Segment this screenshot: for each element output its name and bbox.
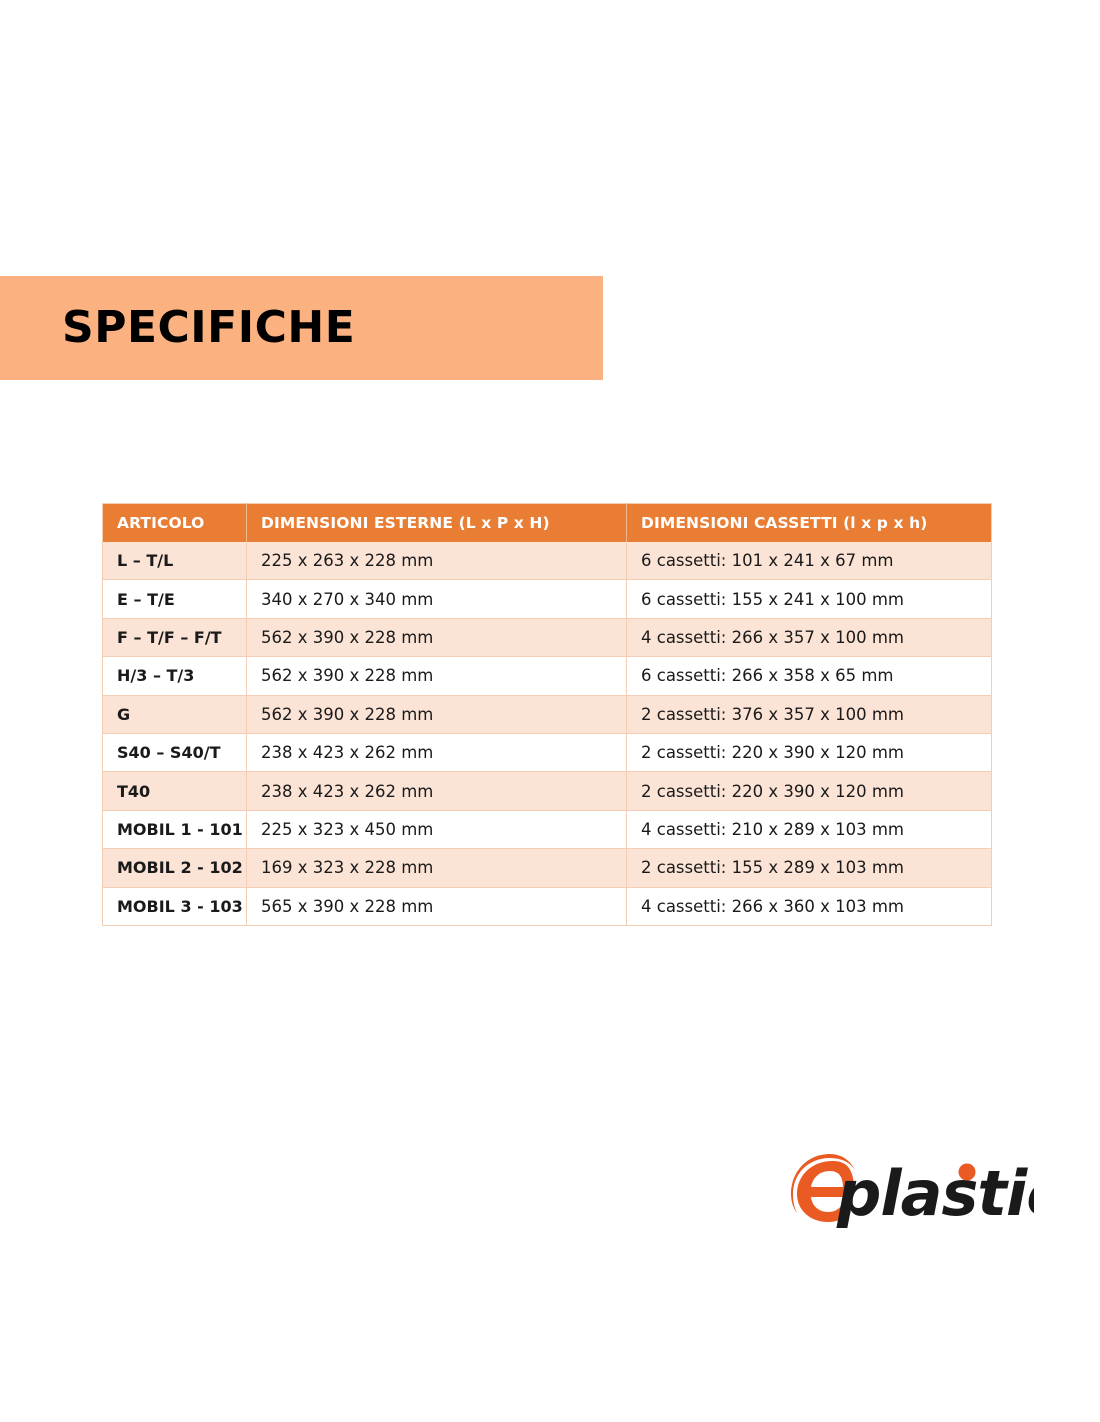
cell-dimensioni-cassetti: 2 cassetti: 220 x 390 x 120 mm [627, 733, 992, 771]
eplastic-i-dot [959, 1164, 976, 1181]
cell-articolo: MOBIL 3 - 103 [103, 887, 247, 925]
cell-dimensioni-cassetti: 2 cassetti: 376 x 357 x 100 mm [627, 695, 992, 733]
cell-articolo: MOBIL 1 - 101 [103, 810, 247, 848]
column-header-dimensioni-cassetti: DIMENSIONI CASSETTI (l x p x h) [627, 504, 992, 543]
cell-dimensioni-esterne: 225 x 323 x 450 mm [247, 810, 627, 848]
table-row: MOBIL 2 - 102169 x 323 x 228 mm2 cassett… [103, 849, 992, 887]
cell-articolo: S40 – S40/T [103, 733, 247, 771]
cell-dimensioni-esterne: 169 x 323 x 228 mm [247, 849, 627, 887]
table-row: MOBIL 3 - 103565 x 390 x 228 mm4 cassett… [103, 887, 992, 925]
cell-articolo: F – T/F – F/T [103, 618, 247, 656]
cell-articolo: L – T/L [103, 542, 247, 580]
specifiche-banner: SPECIFICHE [0, 276, 603, 380]
cell-dimensioni-cassetti: 2 cassetti: 220 x 390 x 120 mm [627, 772, 992, 810]
table-body: L – T/L225 x 263 x 228 mm6 cassetti: 101… [103, 542, 992, 925]
table-row: MOBIL 1 - 101225 x 323 x 450 mm4 cassett… [103, 810, 992, 848]
cell-dimensioni-cassetti: 2 cassetti: 155 x 289 x 103 mm [627, 849, 992, 887]
table-row: L – T/L225 x 263 x 228 mm6 cassetti: 101… [103, 542, 992, 580]
table-row: S40 – S40/T238 x 423 x 262 mm2 cassetti:… [103, 733, 992, 771]
cell-dimensioni-esterne: 565 x 390 x 228 mm [247, 887, 627, 925]
column-header-dimensioni-esterne: DIMENSIONI ESTERNE (L x P x H) [247, 504, 627, 543]
table-header-row: ARTICOLO DIMENSIONI ESTERNE (L x P x H) … [103, 504, 992, 543]
table-row: T40238 x 423 x 262 mm2 cassetti: 220 x 3… [103, 772, 992, 810]
eplastic-wordmark: plastic [836, 1157, 1034, 1230]
table-row: F – T/F – F/T562 x 390 x 228 mm4 cassett… [103, 618, 992, 656]
cell-articolo: H/3 – T/3 [103, 657, 247, 695]
cell-dimensioni-cassetti: 4 cassetti: 210 x 289 x 103 mm [627, 810, 992, 848]
cell-articolo: E – T/E [103, 580, 247, 618]
cell-dimensioni-esterne: 562 x 390 x 228 mm [247, 695, 627, 733]
cell-articolo: T40 [103, 772, 247, 810]
cell-dimensioni-esterne: 340 x 270 x 340 mm [247, 580, 627, 618]
cell-dimensioni-esterne: 225 x 263 x 228 mm [247, 542, 627, 580]
cell-dimensioni-cassetti: 6 cassetti: 155 x 241 x 100 mm [627, 580, 992, 618]
cell-dimensioni-cassetti: 4 cassetti: 266 x 360 x 103 mm [627, 887, 992, 925]
cell-dimensioni-cassetti: 4 cassetti: 266 x 357 x 100 mm [627, 618, 992, 656]
cell-articolo: MOBIL 2 - 102 [103, 849, 247, 887]
table-row: H/3 – T/3562 x 390 x 228 mm6 cassetti: 2… [103, 657, 992, 695]
table-header: ARTICOLO DIMENSIONI ESTERNE (L x P x H) … [103, 504, 992, 543]
specifications-table: ARTICOLO DIMENSIONI ESTERNE (L x P x H) … [102, 503, 992, 926]
cell-articolo: G [103, 695, 247, 733]
cell-dimensioni-esterne: 238 x 423 x 262 mm [247, 733, 627, 771]
column-header-articolo: ARTICOLO [103, 504, 247, 543]
cell-dimensioni-esterne: 562 x 390 x 228 mm [247, 618, 627, 656]
cell-dimensioni-esterne: 562 x 390 x 228 mm [247, 657, 627, 695]
cell-dimensioni-cassetti: 6 cassetti: 266 x 358 x 65 mm [627, 657, 992, 695]
table-row: E – T/E340 x 270 x 340 mm6 cassetti: 155… [103, 580, 992, 618]
eplastic-logo: plastic [789, 1152, 1034, 1232]
table-row: G562 x 390 x 228 mm2 cassetti: 376 x 357… [103, 695, 992, 733]
specifications-table-container: ARTICOLO DIMENSIONI ESTERNE (L x P x H) … [102, 503, 991, 926]
cell-dimensioni-cassetti: 6 cassetti: 101 x 241 x 67 mm [627, 542, 992, 580]
cell-dimensioni-esterne: 238 x 423 x 262 mm [247, 772, 627, 810]
page-title: SPECIFICHE [62, 306, 355, 350]
